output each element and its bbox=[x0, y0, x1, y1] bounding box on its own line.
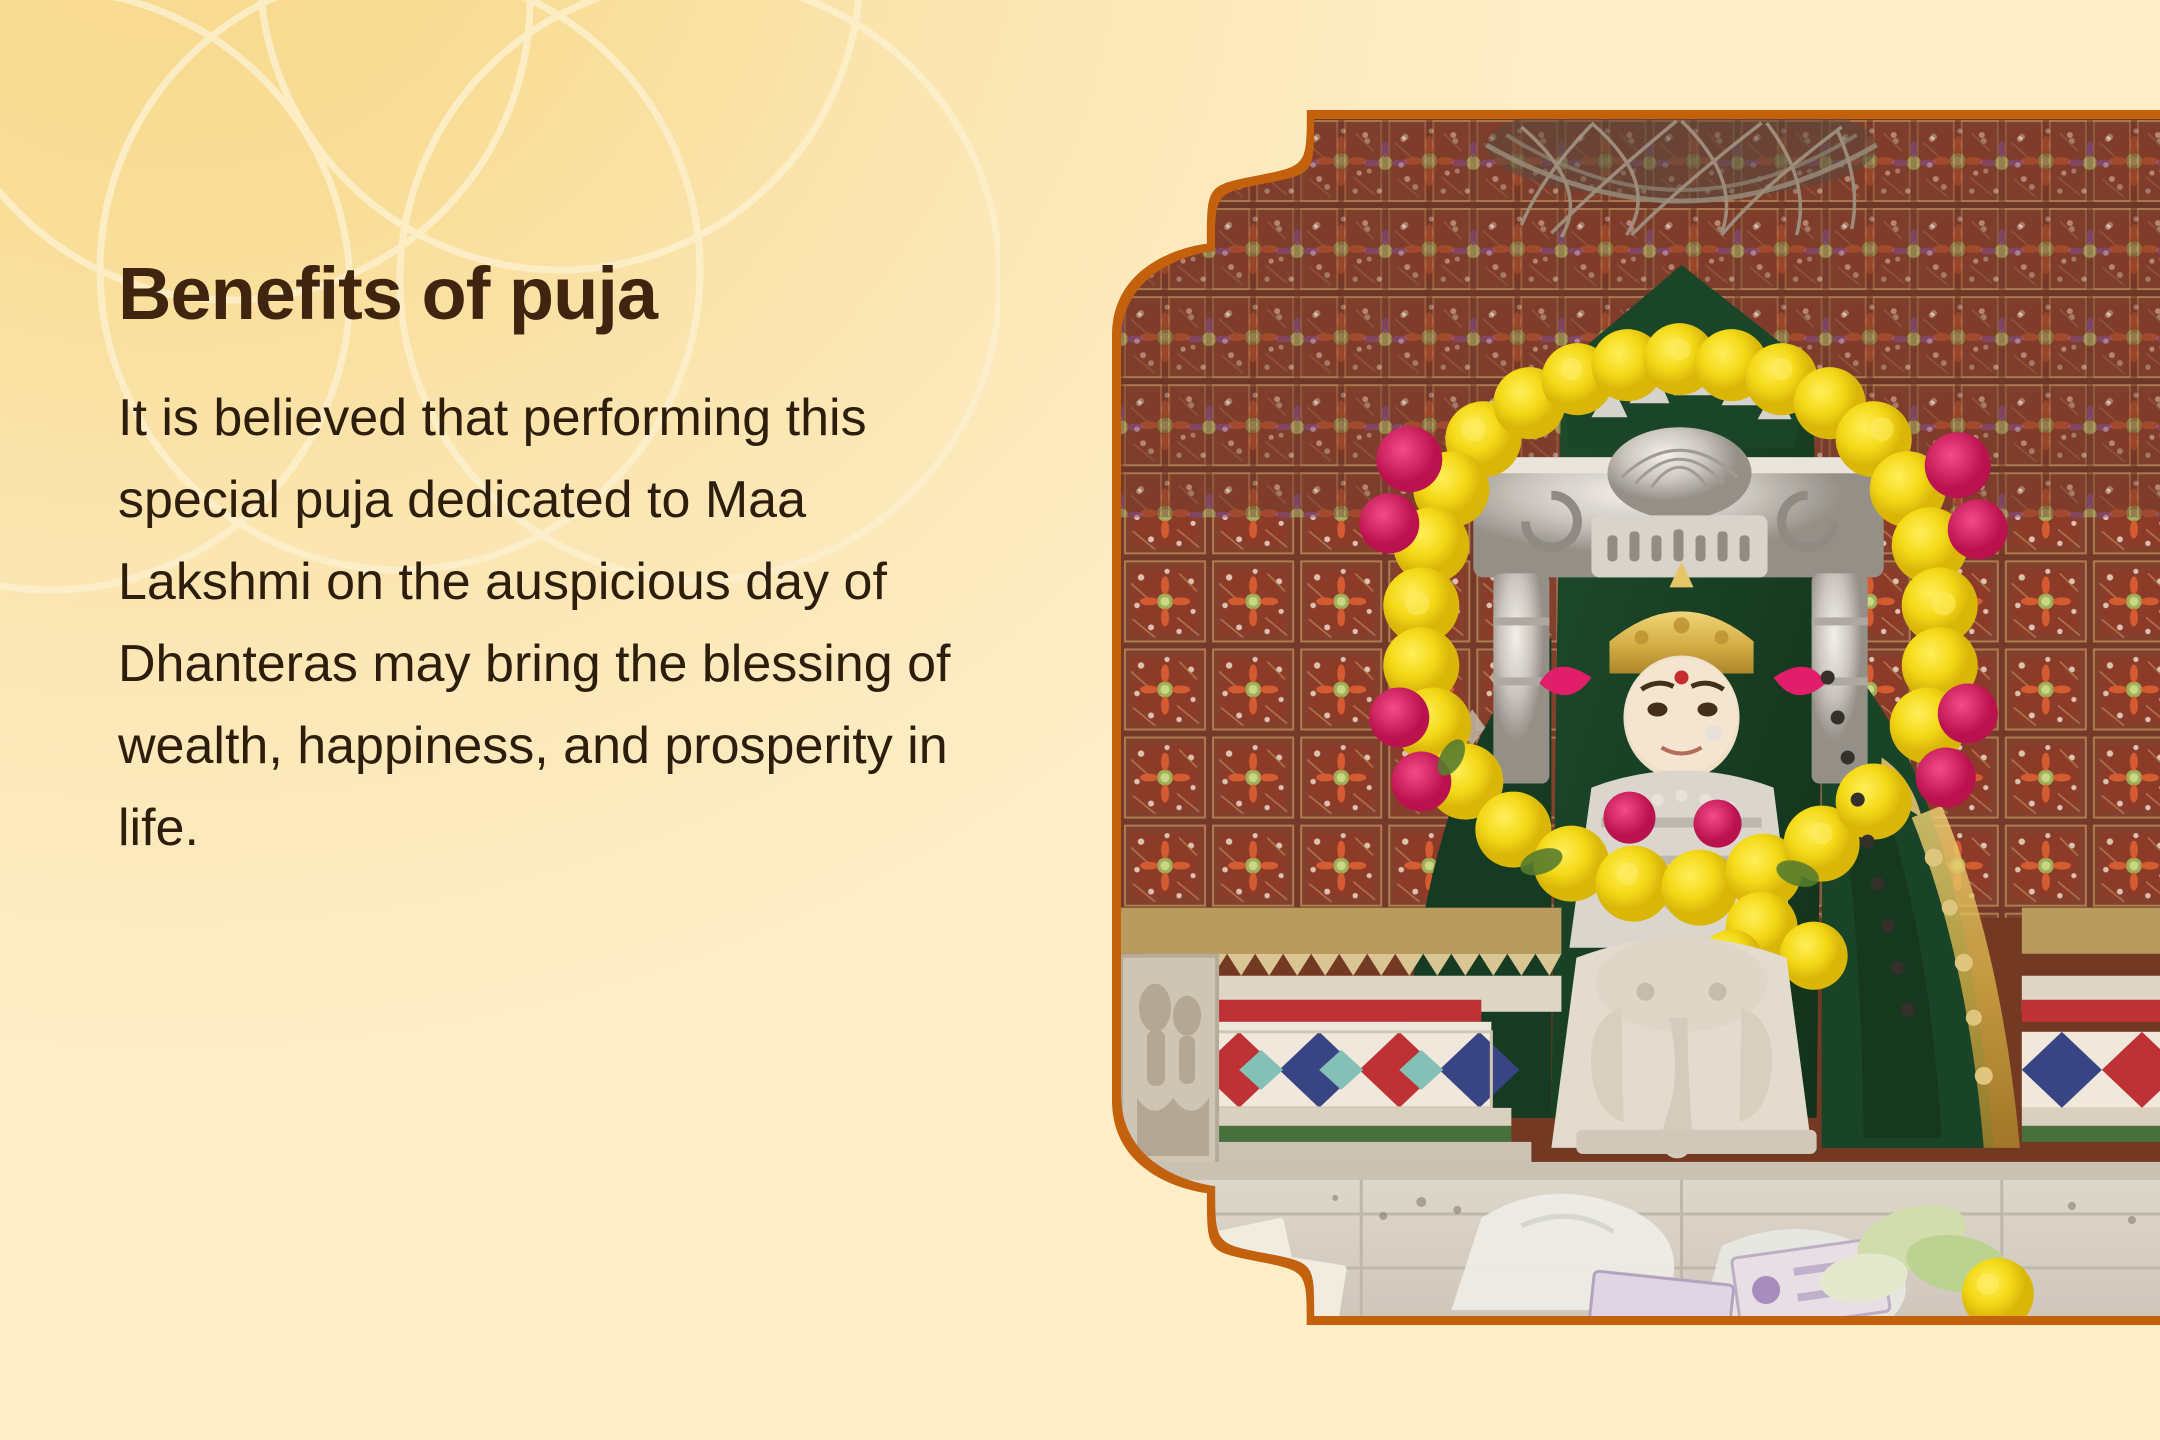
temple-shrine-illustration bbox=[1121, 119, 2160, 1316]
photo-image bbox=[1121, 119, 2160, 1316]
photo-card-frame bbox=[1112, 110, 2160, 1325]
body-paragraph: It is believed that performing this spec… bbox=[118, 377, 978, 870]
page-title: Benefits of puja bbox=[118, 255, 998, 333]
text-column: Benefits of puja It is believed that per… bbox=[118, 255, 998, 870]
slide-canvas: Benefits of puja It is believed that per… bbox=[0, 0, 2160, 1440]
